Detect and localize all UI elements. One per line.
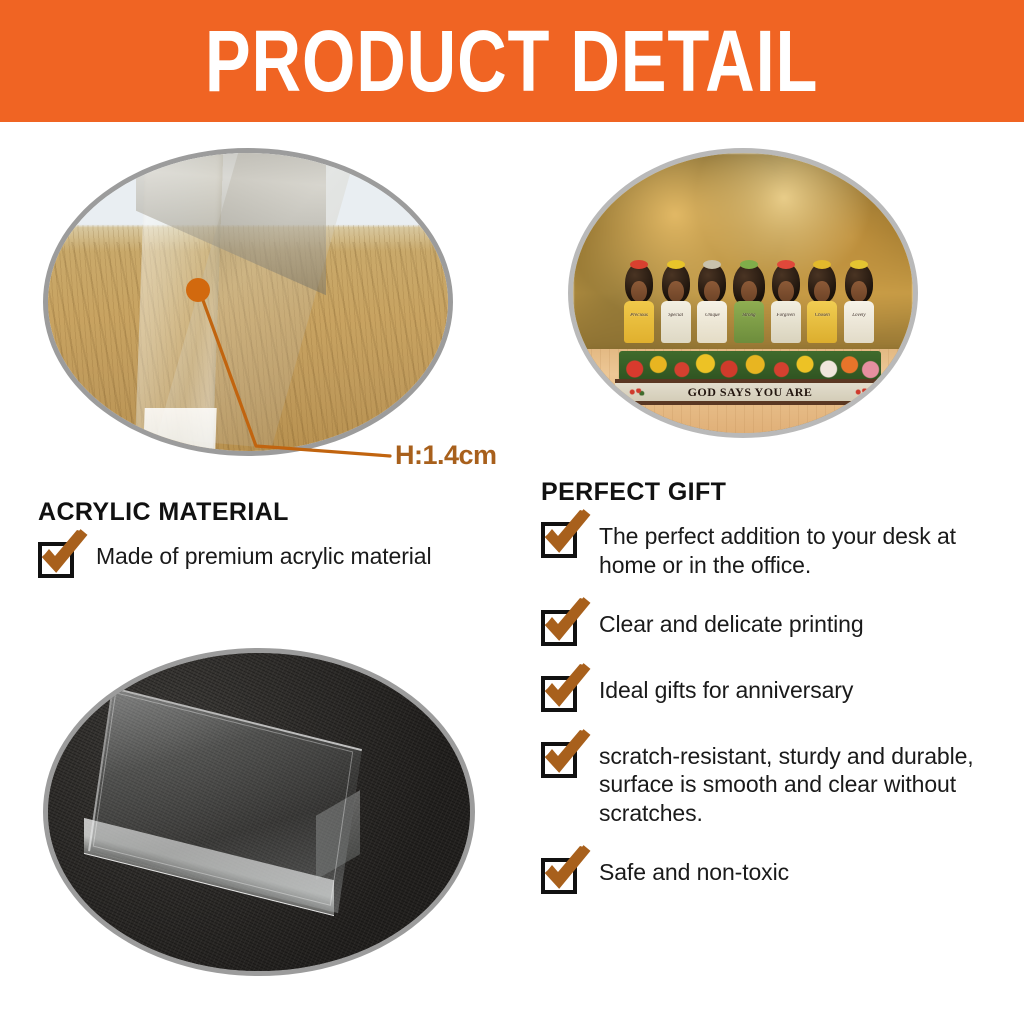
list-item-text: Clear and delicate printing [599, 608, 864, 639]
figurine-hair-accessory [850, 260, 868, 269]
figurine-hair-accessory [667, 260, 685, 269]
figurine-face [778, 281, 794, 302]
section-heading-acrylic-material: ACRYLIC MATERIAL [38, 498, 289, 527]
figurine-name-label: Forgiven [773, 313, 799, 318]
checkbox-checked [541, 610, 577, 646]
checkbox-checked [38, 542, 74, 578]
figurine-name-label: Lovely [846, 313, 872, 318]
figurine-face [631, 281, 647, 302]
figurine-hair-accessory [630, 260, 648, 269]
bullet-list-perfect-gift: The perfect addition to your desk at hom… [541, 520, 1001, 922]
thickness-label: H:1.4cm [395, 440, 497, 471]
product-plinth: GOD SAYS YOU ARE [615, 379, 885, 405]
list-item-text: Made of premium acrylic material [96, 540, 432, 571]
section-heading-perfect-gift: PERFECT GIFT [541, 478, 726, 507]
figurine-dress [697, 301, 727, 343]
list-item: Clear and delicate printing [541, 608, 1001, 646]
checkmark-icon [542, 846, 592, 892]
figurine-name-label: Strong [736, 313, 762, 318]
figurine-name-label: Special [663, 313, 689, 318]
checkmark-icon [39, 530, 89, 576]
figurine-hair-accessory [813, 260, 831, 269]
figurine-face [851, 281, 867, 302]
photo-product-figurines: Precious Special Unique Strong [568, 148, 918, 438]
page-title: PRODUCT DETAIL [205, 17, 819, 104]
checkmark-icon [542, 664, 592, 710]
list-item: scratch-resistant, sturdy and durable, s… [541, 740, 1001, 828]
figurine-face [814, 281, 830, 302]
figurine-dress [734, 301, 764, 343]
list-item-text: Safe and non-toxic [599, 856, 789, 887]
figurine-name-label: Precious [626, 313, 652, 318]
plinth-flourish-right-icon [855, 389, 871, 396]
checkmark-icon [542, 598, 592, 644]
list-item-text: scratch-resistant, sturdy and durable, s… [599, 740, 1001, 828]
figurine-name-label: Chosen [809, 313, 835, 318]
figurine-dress [807, 301, 837, 343]
list-item-text: The perfect addition to your desk at hom… [599, 520, 1001, 580]
list-item: Ideal gifts for anniversary [541, 674, 1001, 712]
photo-acrylic-block [43, 648, 475, 976]
page-header-banner: PRODUCT DETAIL [0, 0, 1024, 122]
checkmark-icon [542, 730, 592, 776]
figurine-dress [844, 301, 874, 343]
figurine-dress [661, 301, 691, 343]
flower-arrangement [619, 351, 881, 381]
bullet-list-acrylic-material: Made of premium acrylic material [38, 540, 518, 600]
figurine-face [668, 281, 684, 302]
list-item: The perfect addition to your desk at hom… [541, 520, 1001, 580]
plinth-inscription: GOD SAYS YOU ARE [688, 385, 813, 400]
list-item: Safe and non-toxic [541, 856, 1001, 894]
photo-acrylic-edge [43, 148, 453, 456]
figurine-face [741, 281, 757, 302]
checkmark-icon [542, 510, 592, 556]
figurine-hair-accessory [740, 260, 758, 269]
figurine-name-label: Unique [699, 313, 725, 318]
list-item-text: Ideal gifts for anniversary [599, 674, 853, 705]
figurine-dress [624, 301, 654, 343]
checkbox-checked [541, 522, 577, 558]
figurine-hair-accessory [703, 260, 721, 269]
checkbox-checked [541, 858, 577, 894]
figurine-face [704, 281, 720, 302]
checkbox-checked [541, 676, 577, 712]
figurine-dress [771, 301, 801, 343]
plinth-flourish-left-icon [629, 389, 645, 396]
figurine-hair-accessory [777, 260, 795, 269]
list-item: Made of premium acrylic material [38, 540, 518, 578]
checkbox-checked [541, 742, 577, 778]
acrylic-slab-glint [143, 408, 216, 450]
